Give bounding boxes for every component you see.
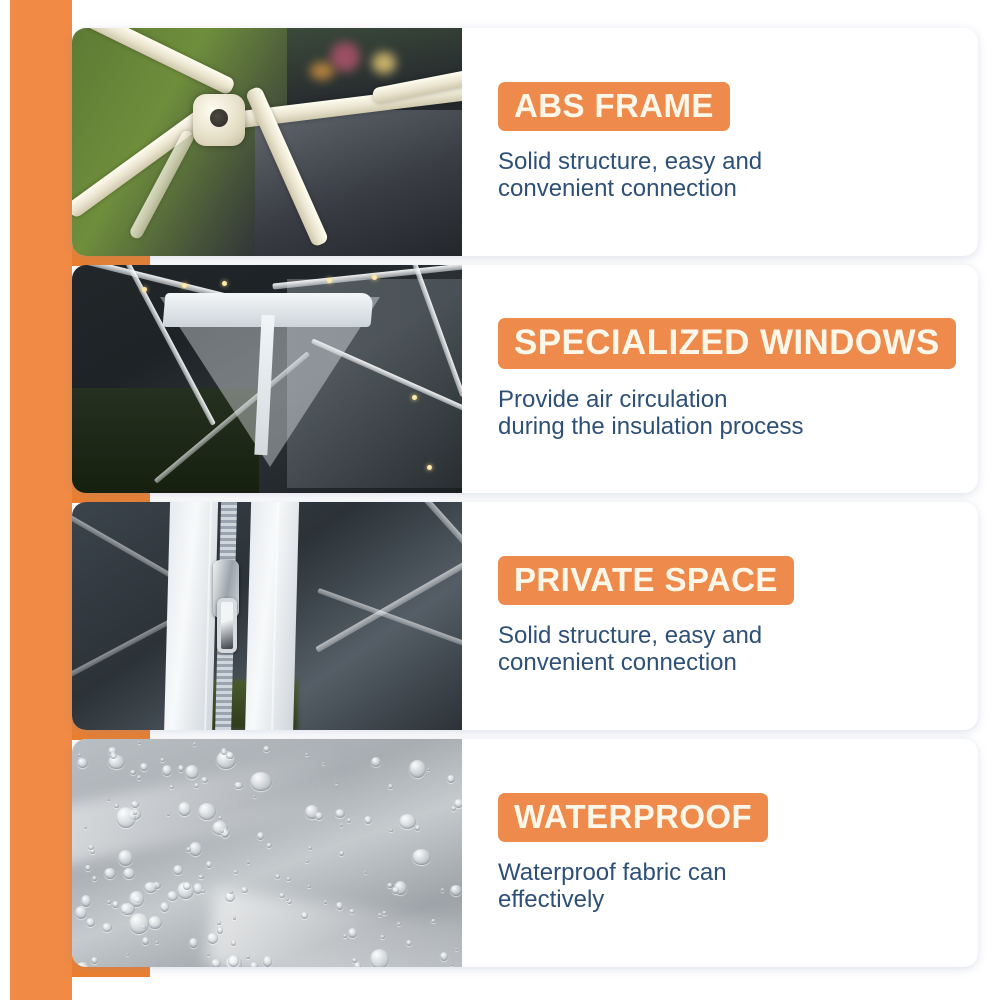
- feature-badge: WATERPROOF: [498, 793, 768, 842]
- feature-description-line1: Solid structure, easy and: [498, 148, 762, 175]
- water-droplet: [167, 891, 178, 901]
- water-droplet: [388, 784, 393, 789]
- abs-frame-hub-photo: [72, 28, 462, 256]
- water-droplet: [392, 887, 399, 893]
- water-droplet: [349, 909, 355, 914]
- feature-text-column: ABS FRAME Solid structure, easy and conv…: [462, 28, 978, 256]
- water-droplet: [211, 959, 221, 967]
- water-droplet: [371, 757, 382, 767]
- water-droplet: [85, 865, 90, 871]
- water-droplet: [92, 876, 97, 881]
- water-droplet: [364, 871, 368, 874]
- water-droplet: [335, 782, 338, 785]
- water-droplet: [315, 812, 323, 820]
- feature-text-column: SPECIALIZED WINDOWS Provide air circulat…: [462, 265, 978, 493]
- water-droplet: [336, 902, 343, 910]
- water-droplet: [406, 940, 412, 946]
- water-droplet: [412, 849, 431, 866]
- water-droplet: [81, 895, 92, 906]
- water-droplet: [308, 846, 313, 850]
- water-droplet: [322, 762, 325, 765]
- feature-card: ABS FRAME Solid structure, easy and conv…: [72, 28, 978, 256]
- water-droplet: [250, 962, 258, 967]
- water-droplet: [399, 814, 416, 828]
- water-droplet: [409, 760, 427, 779]
- water-droplet: [104, 868, 116, 879]
- water-droplet: [226, 752, 233, 758]
- water-droplet: [162, 765, 173, 776]
- water-droplet: [178, 802, 191, 816]
- feature-description-line2: convenient connection: [498, 176, 918, 203]
- zipper-door-photo: [72, 502, 462, 730]
- feature-description: Solid structure, easy and convenient con…: [498, 149, 918, 203]
- water-droplet: [142, 937, 150, 945]
- feature-description: Solid structure, easy and convenient con…: [498, 623, 918, 677]
- water-droplet: [257, 832, 265, 840]
- water-droplet: [173, 865, 183, 875]
- water-droplet: [186, 847, 190, 852]
- water-droplet: [229, 891, 233, 895]
- water-droplet: [86, 918, 95, 927]
- water-droplet: [370, 949, 390, 967]
- water-droplet: [382, 911, 387, 916]
- fabric-sheen: [205, 888, 462, 967]
- water-droplet: [102, 923, 112, 932]
- water-droplet: [335, 809, 345, 818]
- feature-text-column: PRIVATE SPACE Solid structure, easy and …: [462, 502, 978, 730]
- water-droplet: [160, 758, 165, 763]
- water-droplet: [140, 763, 148, 771]
- feature-badge: ABS FRAME: [498, 82, 730, 131]
- water-droplet: [441, 888, 445, 892]
- water-droplet: [130, 770, 136, 775]
- water-droplet: [207, 933, 218, 944]
- photo-blur-spot: [372, 52, 396, 74]
- water-droplet: [263, 956, 273, 967]
- specialized-window-vent-photo: [72, 265, 462, 493]
- water-droplet: [193, 742, 197, 745]
- water-droplet: [266, 843, 272, 848]
- water-droplet: [77, 758, 87, 769]
- water-droplet: [133, 812, 137, 816]
- water-droplet: [454, 799, 462, 808]
- water-droplet: [126, 953, 129, 956]
- feature-list-infographic: ABS FRAME Solid structure, easy and conv…: [0, 0, 1000, 1000]
- water-droplet: [148, 916, 162, 930]
- water-droplet: [246, 955, 250, 959]
- water-droplet: [307, 885, 311, 888]
- feature-badge: PRIVATE SPACE: [498, 556, 794, 605]
- string-light: [427, 465, 432, 470]
- water-droplet: [364, 816, 372, 824]
- water-droplet: [347, 818, 352, 823]
- feature-card: SPECIALIZED WINDOWS Provide air circulat…: [72, 265, 978, 493]
- left-accent-bar: [10, 0, 72, 1000]
- frame-tube: [72, 28, 236, 96]
- dome-strut: [317, 588, 462, 661]
- water-droplet: [114, 804, 119, 809]
- water-droplet: [228, 955, 239, 967]
- water-droplet: [217, 921, 221, 924]
- feature-description-line1: Waterproof fabric can: [498, 860, 727, 886]
- water-droplet: [279, 893, 285, 898]
- water-droplet: [160, 902, 170, 913]
- water-droplet: [415, 825, 421, 831]
- feature-description-line1: Solid structure, easy and: [498, 622, 762, 649]
- feature-text-column: WATERPROOF Waterproof fabric can effecti…: [462, 739, 978, 967]
- water-droplet: [389, 829, 393, 833]
- zipper-pull-tab: [217, 598, 237, 653]
- water-droplet: [198, 803, 216, 820]
- water-droplet: [138, 741, 141, 744]
- feature-card-stack: ABS FRAME Solid structure, easy and conv…: [72, 0, 1000, 1000]
- water-droplet: [91, 957, 98, 964]
- frame-hub-connector: [193, 94, 245, 146]
- string-light: [222, 281, 227, 286]
- water-droplet: [397, 922, 401, 926]
- water-droplet: [120, 903, 135, 915]
- water-droplet: [90, 849, 95, 854]
- water-droplet: [183, 882, 191, 891]
- water-droplet: [198, 875, 204, 880]
- feature-description-line1: Provide air circulation: [498, 386, 727, 413]
- dome-strut: [72, 505, 183, 584]
- water-droplet: [78, 753, 81, 757]
- water-droplet: [324, 900, 328, 903]
- water-droplet: [129, 913, 149, 935]
- water-droplet: [116, 807, 136, 828]
- water-droplet: [123, 868, 135, 879]
- water-droplet: [263, 746, 270, 752]
- string-light: [142, 287, 147, 292]
- feature-card: WATERPROOF Waterproof fabric can effecti…: [72, 739, 978, 967]
- water-droplet: [178, 765, 185, 772]
- feature-badge: SPECIALIZED WINDOWS: [498, 318, 956, 369]
- water-droplet: [340, 823, 344, 827]
- feature-card: PRIVATE SPACE Solid structure, easy and …: [72, 502, 978, 730]
- water-droplet: [118, 850, 134, 866]
- water-droplet: [343, 934, 347, 938]
- water-droplet: [155, 941, 159, 944]
- water-droplet: [206, 861, 213, 868]
- water-droplet: [112, 901, 119, 908]
- water-droplet: [75, 906, 88, 919]
- water-droplet: [354, 962, 361, 967]
- water-droplet: [217, 927, 223, 934]
- water-droplet: [427, 768, 430, 771]
- water-droplet: [76, 962, 89, 967]
- water-droplet: [231, 940, 236, 945]
- waterproof-droplets-photo: [72, 739, 462, 967]
- water-droplet: [455, 948, 459, 951]
- water-droplet: [233, 870, 238, 874]
- water-droplet: [286, 877, 291, 881]
- water-droplet: [301, 912, 308, 919]
- water-droplet: [275, 874, 280, 880]
- water-droplet: [450, 963, 453, 966]
- photo-blur-spot: [330, 42, 360, 72]
- water-droplet: [189, 938, 198, 947]
- water-droplet: [201, 889, 205, 893]
- photo-blur-spot: [310, 62, 334, 80]
- string-light: [412, 395, 417, 400]
- feature-description-line2: effectively: [498, 887, 918, 914]
- water-droplet: [185, 765, 199, 779]
- water-droplet: [305, 860, 309, 864]
- feature-description-line2: convenient connection: [498, 650, 918, 677]
- water-droplet: [144, 882, 157, 893]
- water-droplet: [241, 887, 247, 893]
- water-droplet: [107, 900, 111, 904]
- water-droplet: [247, 860, 251, 864]
- feature-description: Provide air circulation during the insul…: [498, 387, 918, 441]
- water-droplet: [305, 753, 308, 756]
- water-droplet: [137, 775, 142, 780]
- string-light: [372, 275, 377, 280]
- water-droplet: [450, 885, 462, 896]
- water-droplet: [339, 851, 344, 856]
- water-droplet: [250, 772, 272, 792]
- water-droplet: [233, 916, 237, 920]
- water-droplet: [169, 785, 174, 789]
- string-light: [182, 283, 187, 288]
- string-light: [327, 278, 332, 283]
- water-droplet: [447, 775, 455, 783]
- feature-description: Waterproof fabric can effectively: [498, 860, 918, 914]
- feature-description-line2: during the insulation process: [498, 414, 918, 441]
- water-droplet: [387, 883, 392, 889]
